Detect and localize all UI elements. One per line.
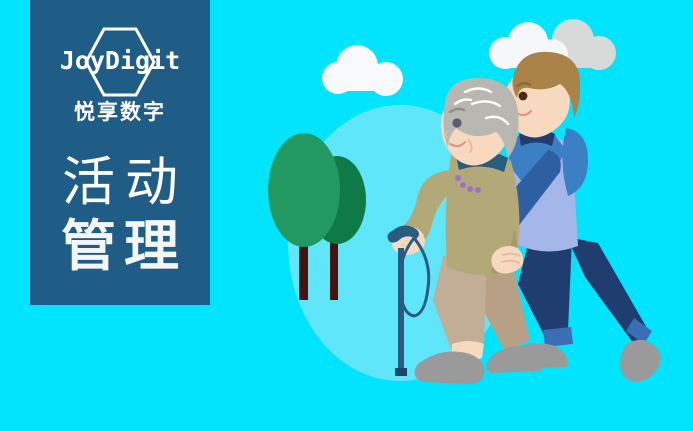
logo-chinese-name: 悦享数字 [74,96,166,126]
logo-lockup: JoyDigit [45,26,195,98]
page-title-line2: 管理 [30,214,210,278]
brand-panel: JoyDigit 悦享数字 活动 管理 [30,0,210,305]
woman-far-shoe [486,346,544,373]
man-far-shoe [620,340,661,382]
man-hood [562,128,588,196]
man-eye [519,92,528,101]
page-title-line1: 活动 [30,152,210,214]
cloud-left [322,45,403,96]
logo-wordmark: JoyDigit [45,46,195,75]
cane-tip [395,368,407,376]
page-title: 活动 管理 [30,152,210,278]
woman-eye [452,118,461,127]
poster-canvas: JoyDigit 悦享数字 活动 管理 [0,0,693,431]
man-near-cuff [543,327,573,347]
